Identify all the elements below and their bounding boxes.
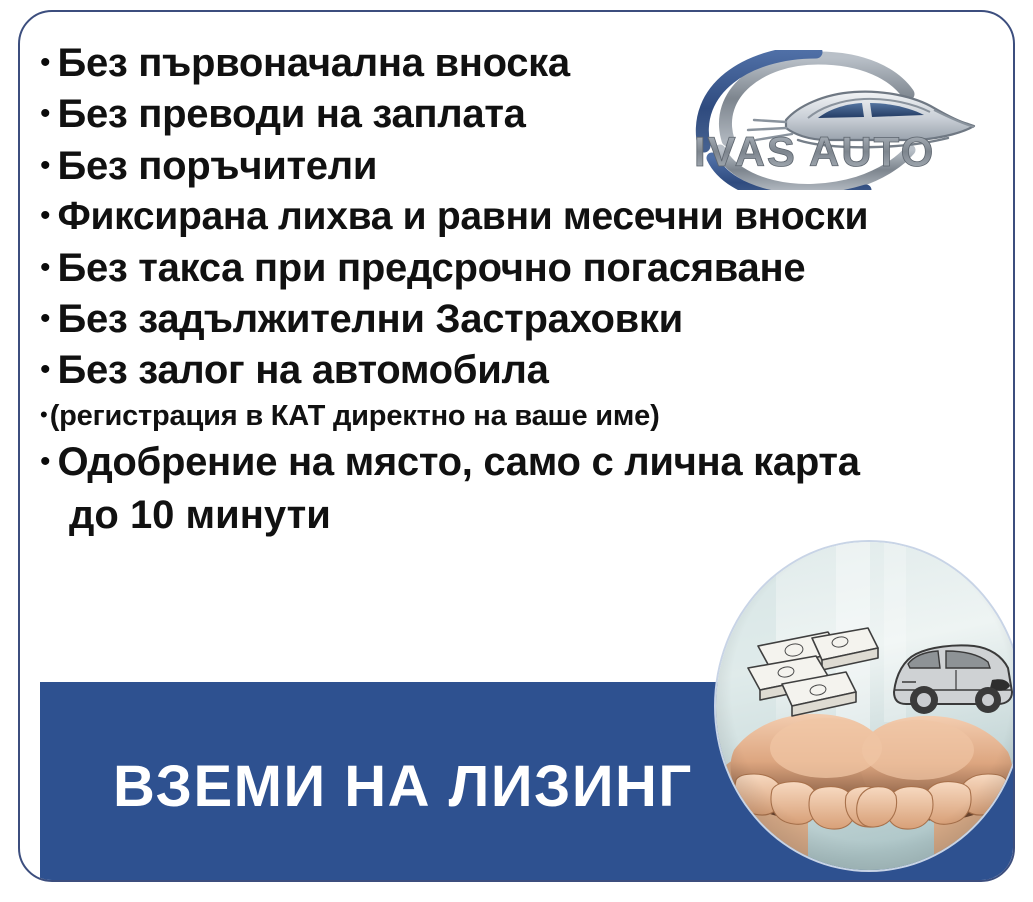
benefit-note-text: (регистрация в КАТ директно на ваше име): [50, 401, 660, 432]
bullet-icon: •: [40, 404, 48, 426]
hands-photo: [714, 540, 1015, 872]
bullet-icon: •: [40, 355, 51, 385]
bullet-icon: •: [40, 99, 51, 129]
bullet-icon: •: [40, 48, 51, 78]
benefit-text: Без залог на автомобила: [58, 349, 549, 391]
benefit-text: Без поръчители: [58, 145, 378, 187]
banner-headline: ВЗЕМИ НА ЛИЗИНГ: [113, 753, 693, 820]
list-item: • Одобрение на място, само с лична карта: [40, 441, 1000, 483]
poster-root: • Без първоначална вноска • Без преводи …: [0, 0, 1033, 902]
list-item: • Без залог на автомобила: [40, 349, 1000, 391]
logo-wordmark: IVAS AUTO: [694, 128, 935, 175]
bullet-icon: •: [40, 253, 51, 283]
benefit-text: Без първоначална вноска: [58, 42, 570, 84]
bullet-icon: •: [40, 447, 51, 477]
ivas-auto-logo: IVAS AUTO: [668, 50, 998, 190]
bullet-icon: •: [40, 304, 51, 334]
list-item-note: • (регистрация в КАТ директно на ваше им…: [40, 401, 1000, 432]
bullet-icon: •: [40, 201, 51, 231]
bullet-icon: •: [40, 151, 51, 181]
benefit-text: Без задължителни Застраховки: [58, 298, 683, 340]
benefit-text: Без преводи на заплата: [58, 93, 526, 135]
list-item: • Фиксирана лихва и равни месечни вноски: [40, 196, 1000, 237]
list-item: • Без такса при предсрочно погасяване: [40, 247, 1000, 289]
offer-card: • Без първоначална вноска • Без преводи …: [18, 10, 1015, 882]
benefit-continuation-text: до 10 минути: [69, 493, 1000, 538]
benefit-text: Фиксирана лихва и равни месечни вноски: [58, 196, 869, 237]
benefit-text: Одобрение на място, само с лична карта: [58, 441, 860, 483]
benefit-text: Без такса при предсрочно погасяване: [58, 247, 806, 289]
list-item: • Без задължителни Застраховки: [40, 298, 1000, 340]
